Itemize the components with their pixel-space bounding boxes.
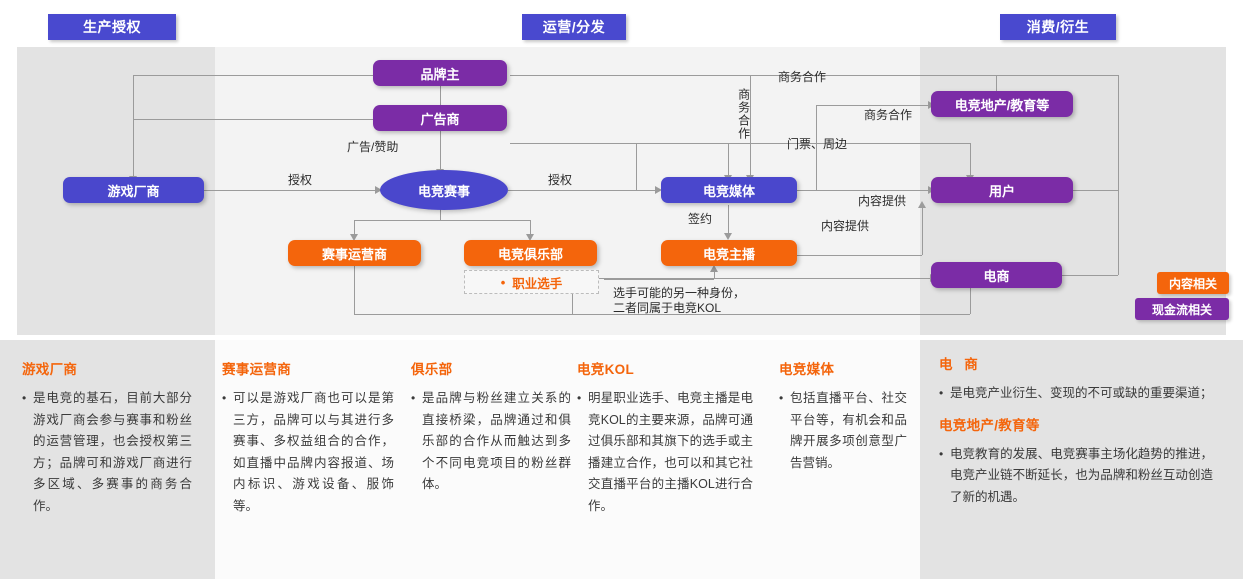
edge-label-content-supply-1: 内容提供 [858, 194, 906, 209]
edge-label-ad-sponsor: 广告/赞助 [347, 140, 398, 155]
edge-event-to-media [508, 190, 655, 191]
bullet-text: 是电竞产业衍生、变现的不可或缺的重要渠道； [950, 383, 1213, 405]
bullet-item: • 包括直播平台、社交平台等，有机会和品牌开展多项创意型广告营销。 [779, 388, 907, 474]
node-label: 职业选手 [512, 273, 562, 292]
bullet-icon: • [501, 276, 506, 289]
edge-rail-vertical-left [133, 75, 134, 176]
edge-tickets-v2 [970, 143, 971, 175]
column-heading: 电 商 [939, 353, 1213, 373]
column-heading: 电竞媒体 [779, 358, 907, 378]
edge-streamer-to-user-h [797, 255, 922, 256]
bullet-icon: • [577, 388, 588, 517]
label-text: 内容提供 [821, 219, 869, 233]
node-label: 品牌主 [420, 64, 459, 83]
edge-to-club [530, 220, 531, 235]
label-text: 选手可能的另一种身份， 二者同属于电竞KOL [613, 286, 745, 315]
edge-media-to-streamer [728, 205, 729, 233]
node-label: 电竞赛事 [418, 181, 470, 200]
edge-loop-to-ecom [1062, 275, 1118, 276]
bullet-text: 包括直播平台、社交平台等，有机会和品牌开展多项创意型广告营销。 [790, 388, 907, 474]
node-label: 电商 [983, 266, 1009, 285]
edge-to-event-operator [354, 220, 355, 235]
bullet-icon: • [222, 388, 233, 517]
edge-brand-right-rail [510, 75, 750, 76]
column-heading: 俱乐部 [411, 358, 571, 378]
label-text: 商务合作 [864, 108, 912, 122]
bullet-text: 是品牌与粉丝建立关系的直接桥梁，品牌通过和俱乐部的合作从而触达到多个不同电竞项目… [422, 388, 571, 496]
arrow-player-to-streamer [710, 265, 718, 272]
bullet-item: • 电竞教育的发展、电竞赛事主场化趋势的推进，电竞产业链不断延长，也为品牌和粉丝… [939, 444, 1213, 509]
edge-label-business-coop-top: 商务合作 [778, 70, 826, 85]
column-esports-kol: 电竞KOL • 明星职业选手、电竞主播是电竞KOL的主要来源，品牌可通过俱乐部和… [577, 358, 753, 517]
edge-media-to-user [797, 190, 928, 191]
legend-chip-content-related: 内容相关 [1157, 272, 1229, 294]
edge-user-right-h [1073, 190, 1118, 191]
edge-brand-to-advertiser [440, 86, 441, 106]
edge-advertiser-to-rail [133, 119, 373, 120]
node-label: 用户 [989, 181, 1015, 200]
edge-streamer-to-user-v [922, 208, 923, 255]
edge-label-contract: 签约 [688, 212, 712, 227]
edge-advertiser-right-down [728, 143, 729, 175]
node-esports-event[interactable]: 电竞赛事 [380, 170, 508, 210]
column-heading: 电竞KOL [577, 358, 753, 378]
column-heading-secondary: 电竞地产/教育等 [939, 414, 1213, 434]
column-esports-media: 电竞媒体 • 包括直播平台、社交平台等，有机会和品牌开展多项创意型广告营销。 [779, 358, 907, 474]
edge-operator-down [354, 266, 355, 314]
node-event-operator[interactable]: 赛事运营商 [288, 240, 421, 266]
column-club: 俱乐部 • 是品牌与粉丝建立关系的直接桥梁，品牌通过和俱乐部的合作从而触达到多个… [411, 358, 571, 496]
label-text: 商务合作 [737, 88, 751, 140]
edge-publisher-to-event [204, 190, 375, 191]
arrow-media-to-streamer [724, 233, 732, 240]
bullet-item: • 可以是游戏厂商也可以是第三方，品牌可以与其进行多赛事、多权益组合的合作，如直… [222, 388, 394, 517]
bullet-item: • 明星职业选手、电竞主播是电竞KOL的主要来源，品牌可通过俱乐部和其旗下的选手… [577, 388, 753, 517]
column-ecommerce: 电 商 • 是电竞产业衍生、变现的不可或缺的重要渠道； 电竞地产/教育等 • 电… [939, 353, 1213, 508]
node-ecommerce[interactable]: 电商 [931, 262, 1062, 288]
phase-badge-operation: 运营/分发 [522, 14, 626, 40]
column-heading: 赛事运营商 [222, 358, 394, 378]
phase-label: 生产授权 [83, 17, 141, 37]
bullet-icon: • [939, 383, 950, 405]
node-label: 游戏厂商 [107, 181, 159, 200]
node-esports-realestate[interactable]: 电竞地产/教育等 [931, 91, 1073, 117]
node-label: 电竞地产/教育等 [955, 95, 1050, 114]
bullet-icon: • [939, 444, 950, 509]
column-event-operator: 赛事运营商 • 可以是游戏厂商也可以是第三方，品牌可以与其进行多赛事、多权益组合… [222, 358, 394, 517]
node-esports-club[interactable]: 电竞俱乐部 [464, 240, 597, 266]
bullet-item: • 是电竞产业衍生、变现的不可或缺的重要渠道； [939, 383, 1213, 405]
edge-player-to-streamer-v [714, 272, 715, 279]
column-heading: 游戏厂商 [22, 358, 192, 378]
diagram-canvas: 生产授权 运营/分发 消费/衍生 [0, 0, 1243, 579]
bullet-item: • 是电竞的基石，目前大部分游戏厂商会参与赛事和粉丝的运营管理，也会授权第三方；… [22, 388, 192, 517]
bullet-text: 是电竞的基石，目前大部分游戏厂商会参与赛事和粉丝的运营管理，也会授权第三方；品牌… [33, 388, 192, 517]
node-label: 电竞主播 [703, 244, 755, 263]
arrow-streamer-to-user [918, 201, 926, 208]
column-game-publisher: 游戏厂商 • 是电竞的基石，目前大部分游戏厂商会参与赛事和粉丝的运营管理，也会授… [22, 358, 192, 517]
node-user[interactable]: 用户 [931, 177, 1073, 203]
edge-realestate-right-v [1118, 75, 1119, 190]
node-pro-player[interactable]: • 职业选手 [464, 270, 599, 294]
phase-label: 运营/分发 [543, 17, 605, 37]
legend-label: 内容相关 [1169, 275, 1217, 292]
edge-brand-to-rail [133, 75, 373, 76]
edge-tickets-v1 [636, 143, 637, 190]
node-label: 电竞媒体 [703, 181, 755, 200]
bullet-icon: • [22, 388, 33, 517]
edge-advertiser-to-event [440, 131, 441, 169]
bullet-text: 可以是游戏厂商也可以是第三方，品牌可以与其进行多赛事、多权益组合的合作，如直播中… [233, 388, 394, 517]
phase-label: 消费/衍生 [1027, 17, 1089, 37]
edge-bottom-rail-up [970, 285, 971, 314]
label-text: 内容提供 [858, 194, 906, 208]
node-esports-streamer[interactable]: 电竞主播 [661, 240, 797, 266]
edge-label-tickets: 门票、周边 [787, 137, 847, 152]
node-label: 赛事运营商 [322, 244, 387, 263]
label-text: 广告/赞助 [347, 140, 398, 154]
edge-event-split-rail [354, 220, 531, 221]
edge-realestate-right-h [996, 75, 1118, 76]
node-esports-media[interactable]: 电竞媒体 [661, 177, 797, 203]
label-text: 签约 [688, 212, 712, 226]
phase-badge-consumption: 消费/衍生 [1000, 14, 1116, 40]
edge-label-content-supply-2: 内容提供 [821, 219, 869, 234]
edge-label-player-note: 选手可能的另一种身份， 二者同属于电竞KOL [613, 286, 745, 316]
bullet-icon: • [411, 388, 422, 496]
edge-club-down [572, 292, 573, 314]
edge-player-note-h [604, 279, 714, 280]
edge-label-business-coop-vertical: 商务合作 [737, 88, 750, 160]
edge-media-to-realestate-h [816, 105, 928, 106]
label-text: 商务合作 [778, 70, 826, 84]
label-text: 授权 [288, 173, 312, 187]
edge-label-license-left: 授权 [288, 173, 312, 188]
label-text: 门票、周边 [787, 137, 847, 151]
bullet-item: • 是品牌与粉丝建立关系的直接桥梁，品牌通过和俱乐部的合作从而触达到多个不同电竞… [411, 388, 571, 496]
phase-badge-production: 生产授权 [48, 14, 176, 40]
edge-label-license-right: 授权 [548, 173, 572, 188]
edge-user-right-v [1118, 190, 1119, 275]
bullet-icon: • [779, 388, 790, 474]
node-brand[interactable]: 品牌主 [373, 60, 507, 86]
node-label: 电竞俱乐部 [498, 244, 563, 263]
legend-chip-cashflow-related: 现金流相关 [1135, 298, 1229, 320]
label-text: 授权 [548, 173, 572, 187]
bullet-text: 电竞教育的发展、电竞赛事主场化趋势的推进，电竞产业链不断延长，也为品牌和粉丝互动… [950, 444, 1213, 509]
node-game-publisher[interactable]: 游戏厂商 [63, 177, 204, 203]
edge-label-business-coop-right: 商务合作 [864, 108, 912, 123]
edge-brand-to-realestate-v [996, 75, 997, 92]
node-label: 广告商 [420, 109, 459, 128]
bullet-text: 明星职业选手、电竞主播是电竞KOL的主要来源，品牌可通过俱乐部和其旗下的选手或主… [588, 388, 753, 517]
legend-label: 现金流相关 [1152, 301, 1212, 318]
node-advertiser[interactable]: 广告商 [373, 105, 507, 131]
